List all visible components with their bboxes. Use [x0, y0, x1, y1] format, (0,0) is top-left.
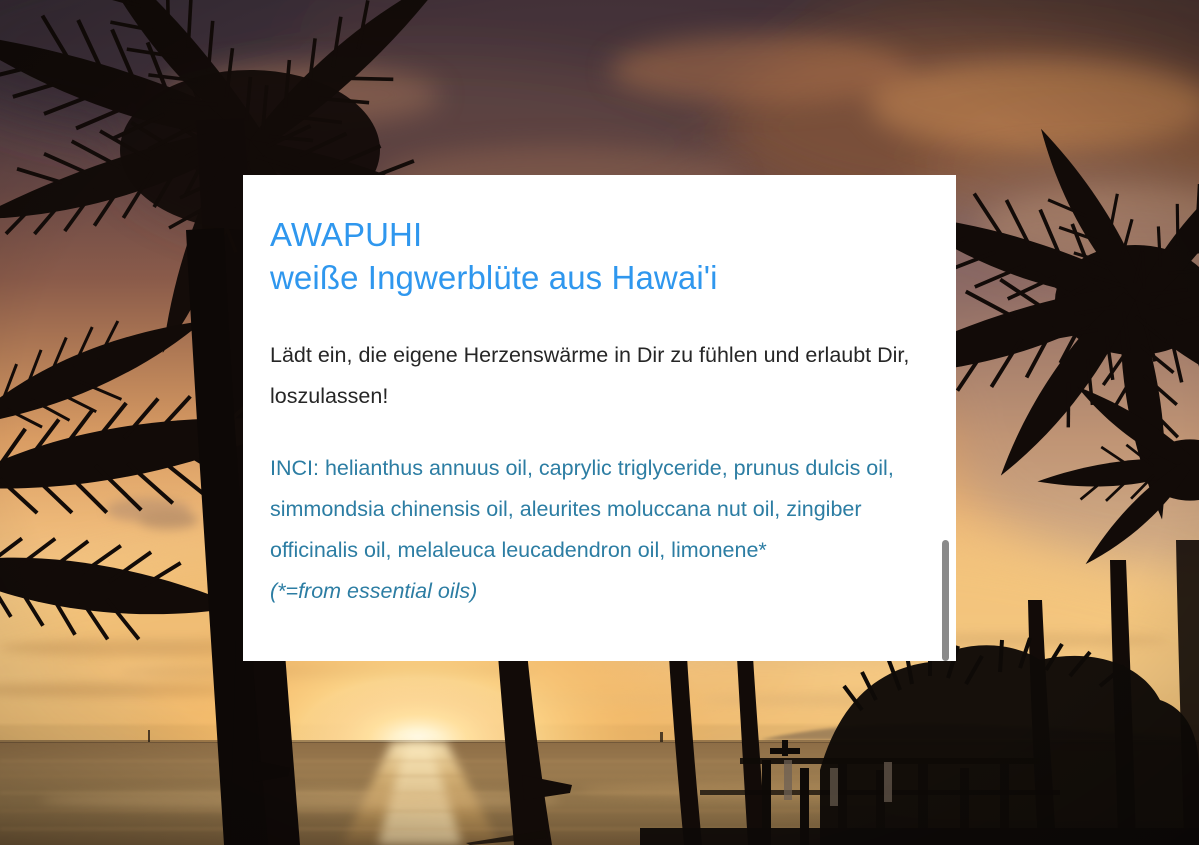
card-content: AWAPUHIweiße Ingwerblüte aus Hawai'i Läd…	[270, 213, 916, 612]
product-description: Lädt ein, die eigene Herzenswärme in Dir…	[270, 335, 916, 417]
product-info-card: AWAPUHIweiße Ingwerblüte aus Hawai'i Läd…	[243, 175, 956, 661]
page-title: AWAPUHIweiße Ingwerblüte aus Hawai'i	[270, 213, 916, 299]
headline-line-2: weiße Ingwerblüte aus Hawai'i	[270, 259, 718, 296]
card-scrollbar-thumb[interactable]	[942, 540, 949, 661]
page-root: AWAPUHIweiße Ingwerblüte aus Hawai'i Läd…	[0, 0, 1199, 845]
headline-line-1: AWAPUHI	[270, 216, 422, 253]
inci-footnote: (*=from essential oils)	[270, 571, 916, 612]
inci-ingredients-list: INCI: helianthus annuus oil, caprylic tr…	[270, 448, 916, 612]
inci-text: INCI: helianthus annuus oil, caprylic tr…	[270, 456, 894, 562]
